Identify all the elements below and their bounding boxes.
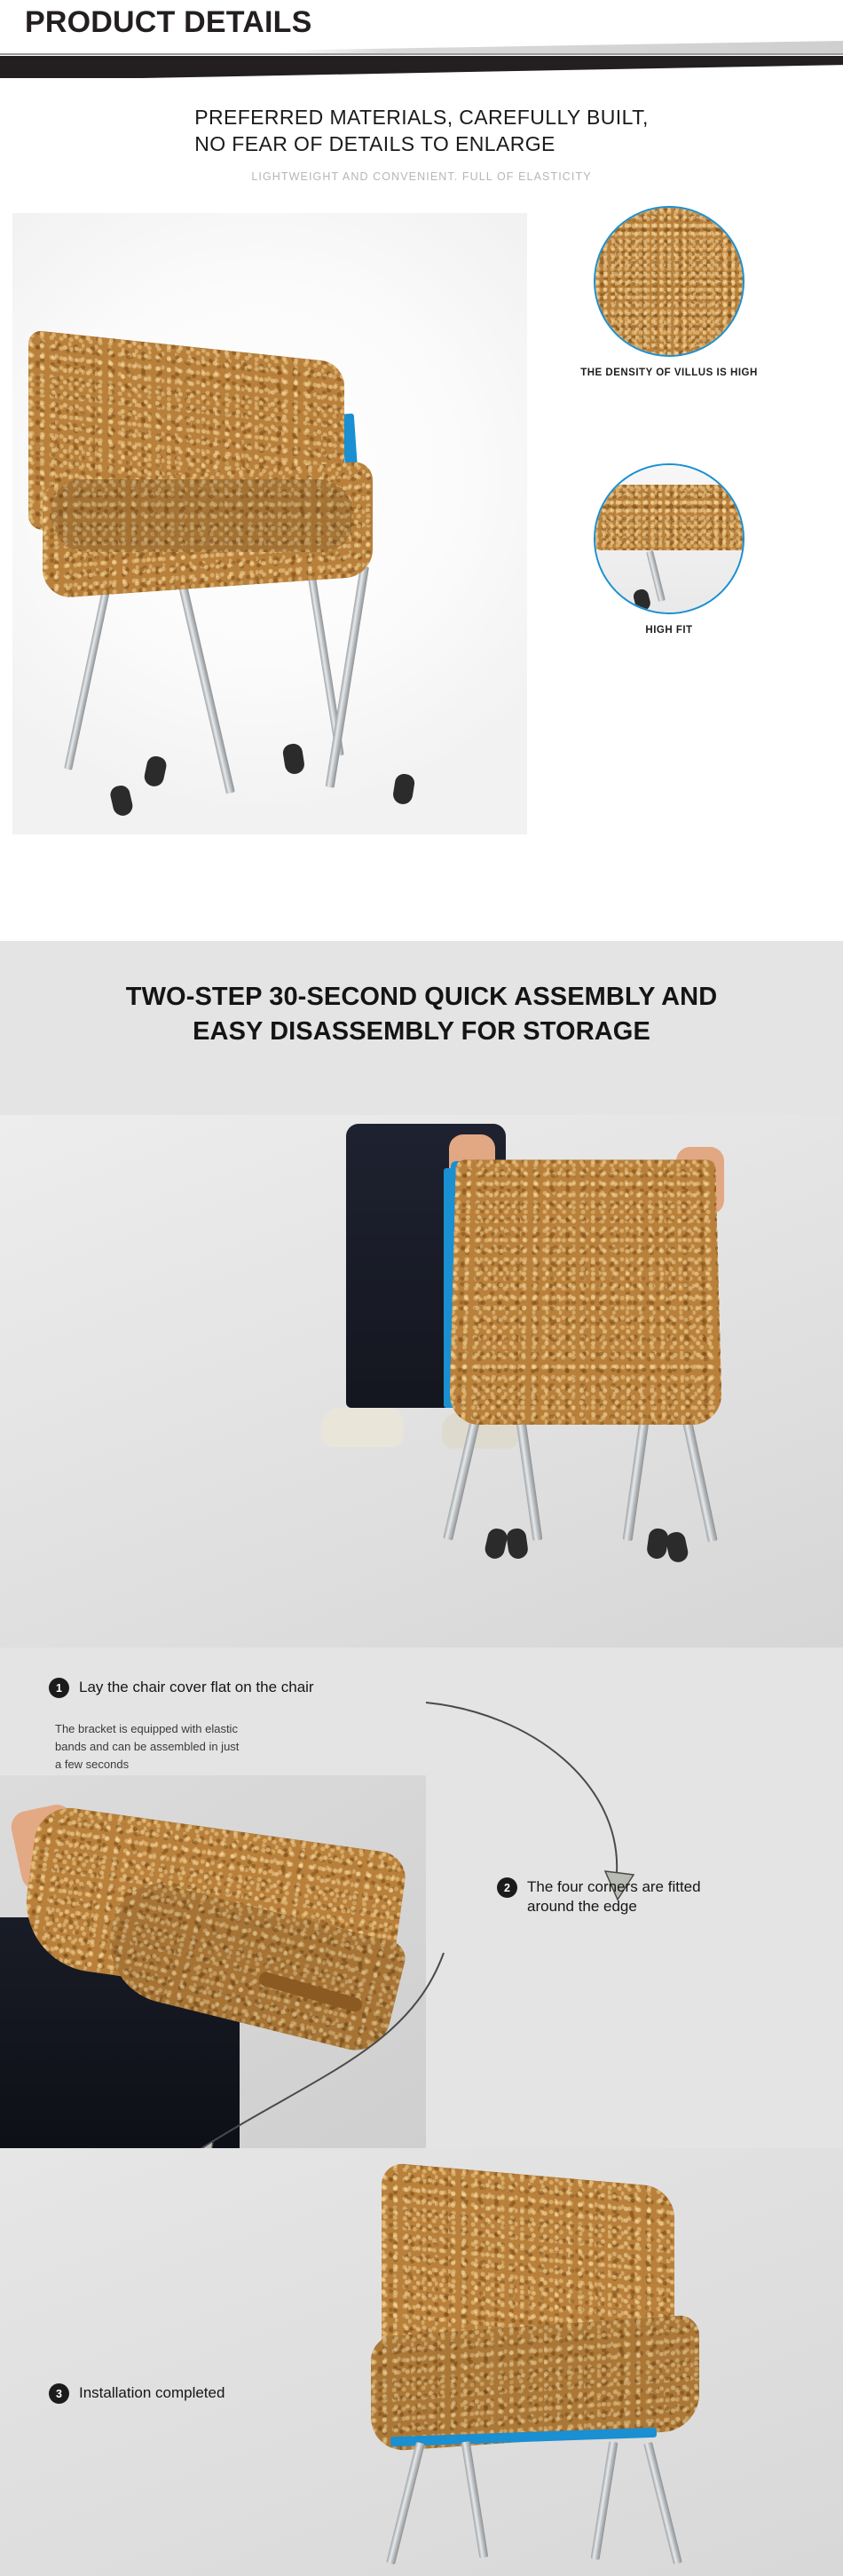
person-shoe-left bbox=[321, 1408, 403, 1447]
section-assembly-guide: TWO-STEP 30-SECOND QUICK ASSEMBLY AND EA… bbox=[0, 941, 843, 2576]
section-one-body: THE DENSITY OF VILLUS IS HIGH HIGH FIT bbox=[0, 197, 843, 898]
step1-foot-4 bbox=[665, 1530, 690, 1564]
section-one-subtitle: LIGHTWEIGHT AND CONVENIENT. FULL OF ELAS… bbox=[0, 170, 843, 183]
callout-density-of-villus: THE DENSITY OF VILLUS IS HIGH bbox=[536, 206, 802, 378]
callout-circle-fur-closeup bbox=[594, 206, 745, 357]
assembly-note: The bracket is equipped with elastic ban… bbox=[55, 1720, 392, 1773]
step3-leg-1 bbox=[386, 2442, 425, 2564]
page-title: PRODUCT DETAILS bbox=[25, 5, 311, 40]
section-one-heading-line2: NO FEAR OF DETAILS TO ENLARGE bbox=[194, 131, 649, 158]
section-two-heading-line1: TWO-STEP 30-SECOND QUICK ASSEMBLY AND bbox=[126, 980, 718, 1015]
section-one-header: PREFERRED MATERIALS, CAREFULLY BUILT, NO… bbox=[0, 78, 843, 183]
fur-closeup-texture bbox=[595, 208, 743, 355]
step-1-badge: 1 bbox=[49, 1678, 69, 1698]
fur-seat-shadow bbox=[51, 479, 353, 552]
banner-hairline bbox=[0, 53, 843, 55]
section-one-heading-line1: PREFERRED MATERIALS, CAREFULLY BUILT, bbox=[194, 105, 649, 131]
step-2-badge: 2 bbox=[497, 1877, 517, 1898]
step1-foot-1 bbox=[483, 1527, 508, 1561]
step1-leg-2 bbox=[515, 1408, 543, 1541]
fur-cover-draped bbox=[449, 1160, 722, 1426]
main-product-photo bbox=[12, 213, 527, 834]
step-1-row: 1 Lay the chair cover flat on the chair bbox=[49, 1678, 510, 1698]
section-two-header: TWO-STEP 30-SECOND QUICK ASSEMBLY AND EA… bbox=[0, 941, 843, 1049]
product-detail-page: PRODUCT DETAILS PREFERRED MATERIALS, CAR… bbox=[0, 0, 843, 2576]
photo-step-2 bbox=[0, 1775, 426, 2148]
section-product-details: PRODUCT DETAILS PREFERRED MATERIALS, CAR… bbox=[0, 0, 843, 941]
step3-leg-3 bbox=[591, 2441, 618, 2560]
step-2-row: 2 The four corners are fitted around the… bbox=[497, 1877, 825, 1917]
fur-corner-texture bbox=[594, 485, 745, 550]
photo-step-1 bbox=[0, 1115, 843, 1648]
step-2-text: The four corners are fitted around the e… bbox=[527, 1877, 701, 1917]
photo-step-3 bbox=[0, 2148, 843, 2576]
callout-label-high-fit: HIGH FIT bbox=[536, 625, 802, 636]
step-3-badge: 3 bbox=[49, 2383, 69, 2404]
section-one-heading: PREFERRED MATERIALS, CAREFULLY BUILT, NO… bbox=[194, 105, 649, 158]
step3-leg-2 bbox=[461, 2441, 489, 2558]
step1-leg-4 bbox=[680, 1409, 717, 1543]
step1-leg-3 bbox=[623, 1408, 651, 1541]
step-1-text: Lay the chair cover flat on the chair bbox=[79, 1678, 314, 1697]
section-two-heading-line2: EASY DISASSEMBLY FOR STORAGE bbox=[126, 1015, 718, 1049]
banner-black-stripe bbox=[0, 56, 843, 78]
step-3-text: Installation completed bbox=[79, 2383, 225, 2403]
callout-label-density: THE DENSITY OF VILLUS IS HIGH bbox=[536, 367, 802, 378]
callout-circle-corner-fit bbox=[594, 463, 745, 614]
step3-leg-4 bbox=[643, 2442, 682, 2564]
callout-high-fit: HIGH FIT bbox=[536, 463, 802, 636]
section-two-heading: TWO-STEP 30-SECOND QUICK ASSEMBLY AND EA… bbox=[126, 980, 718, 1049]
step1-foot-2 bbox=[506, 1528, 530, 1561]
page-banner: PRODUCT DETAILS bbox=[0, 0, 843, 78]
step-3-row: 3 Installation completed bbox=[49, 2383, 421, 2404]
